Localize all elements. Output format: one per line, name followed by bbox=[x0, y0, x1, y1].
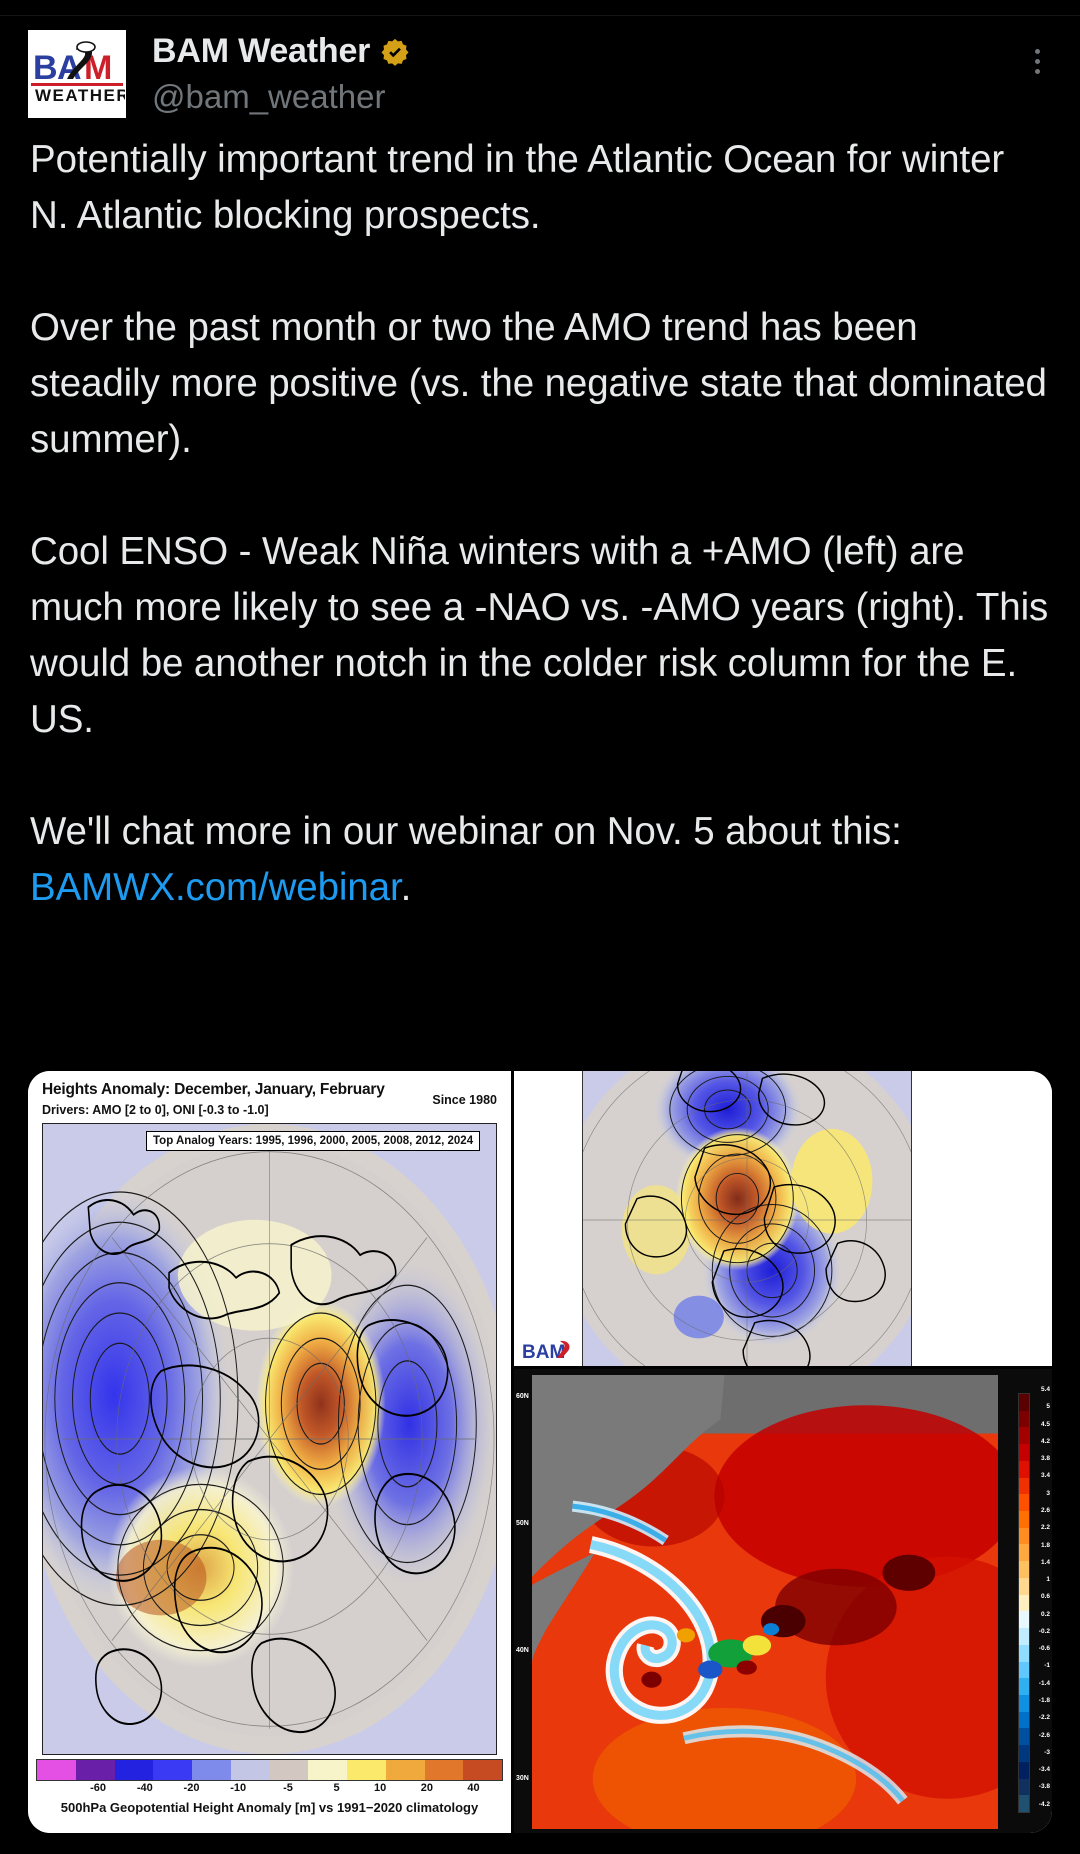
tweet-body: Potentially important trend in the Atlan… bbox=[0, 118, 1080, 916]
sst-tick: -3.4 bbox=[1039, 1767, 1050, 1774]
tweet-text-tail: . bbox=[401, 866, 412, 909]
sst-tick: -1.4 bbox=[1039, 1681, 1050, 1688]
polar-map-svg-2 bbox=[583, 1071, 911, 1366]
sst-anomaly-chart: 60N 50N 40N 30N bbox=[514, 1369, 1052, 1833]
sst-map-canvas bbox=[532, 1375, 998, 1829]
sst-tick: 5.4 bbox=[1041, 1387, 1050, 1394]
sst-tick: -4.2 bbox=[1039, 1802, 1050, 1809]
colorbar-tick: -60 bbox=[59, 1782, 106, 1798]
media-item-height-anomaly-right[interactable]: BAM bbox=[514, 1071, 1052, 1366]
sst-tick: 1.8 bbox=[1041, 1543, 1050, 1550]
colorbar-tick: 20 bbox=[386, 1782, 433, 1798]
more-options-icon[interactable] bbox=[1020, 44, 1054, 78]
top-divider bbox=[0, 0, 1080, 16]
sst-tick: 1.4 bbox=[1041, 1560, 1050, 1567]
svg-text:BAM: BAM bbox=[522, 1342, 565, 1363]
colorbar-container: -60 -40 -20 -10 -5 5 10 20 40 60 500hPa … bbox=[36, 1759, 503, 1825]
bam-weather-logo-icon: B A M WEATHER bbox=[29, 39, 125, 109]
colorbar-tick: -40 bbox=[106, 1782, 153, 1798]
polar-map-canvas-2 bbox=[582, 1071, 912, 1366]
colorbar-tick: 40 bbox=[433, 1782, 480, 1798]
chart-title: Heights Anomaly: December, January, Febr… bbox=[42, 1081, 385, 1099]
sst-colorbar-ticks: 5.4 5 4.5 4.2 3.8 3.4 3 2.6 2.2 1.8 1.4 … bbox=[1030, 1387, 1050, 1819]
svg-text:WEATHER: WEATHER bbox=[35, 86, 125, 105]
media-grid[interactable]: Heights Anomaly: December, January, Febr… bbox=[28, 1071, 1052, 1833]
sst-tick: -2.2 bbox=[1039, 1715, 1050, 1722]
avatar[interactable]: B A M WEATHER bbox=[28, 30, 126, 118]
media-right-column: BAM 60N 50N 40N 30N bbox=[514, 1071, 1052, 1833]
display-name[interactable]: BAM Weather bbox=[152, 32, 370, 71]
colorbar bbox=[36, 1759, 503, 1781]
sst-tick: 2.6 bbox=[1041, 1508, 1050, 1515]
sst-tick: -3.8 bbox=[1039, 1784, 1050, 1791]
sst-tick: 0.6 bbox=[1041, 1594, 1050, 1601]
polar-map-canvas bbox=[42, 1123, 497, 1755]
colorbar-tick: -10 bbox=[199, 1782, 246, 1798]
media-item-sst-anomaly[interactable]: 60N 50N 40N 30N bbox=[514, 1369, 1052, 1833]
sst-tick: 4.5 bbox=[1041, 1422, 1050, 1429]
sst-tick: 1 bbox=[1046, 1577, 1050, 1584]
height-anomaly-chart: Heights Anomaly: December, January, Febr… bbox=[28, 1071, 511, 1833]
user-handle[interactable]: @bam_weather bbox=[152, 77, 410, 117]
sst-tick: -3 bbox=[1044, 1750, 1050, 1757]
sst-tick: 2.2 bbox=[1041, 1525, 1050, 1532]
sst-tick: 3.8 bbox=[1041, 1456, 1050, 1463]
tweet-page: B A M WEATHER BAM Weather @b bbox=[0, 0, 1080, 1854]
sst-tick: -1.8 bbox=[1039, 1698, 1050, 1705]
author-names: BAM Weather @bam_weather bbox=[152, 26, 410, 117]
lat-tick: 60N bbox=[516, 1393, 529, 1400]
sst-tick: -2.6 bbox=[1039, 1733, 1050, 1740]
media-item-height-anomaly-left[interactable]: Heights Anomaly: December, January, Febr… bbox=[28, 1071, 511, 1833]
colorbar-tick: 60 bbox=[480, 1782, 511, 1798]
sst-tick: -0.6 bbox=[1039, 1646, 1050, 1653]
sst-tick: 3 bbox=[1046, 1491, 1050, 1498]
sst-tick: 4.2 bbox=[1041, 1439, 1050, 1446]
colorbar-tick: 10 bbox=[340, 1782, 387, 1798]
colorbar-tick: -5 bbox=[246, 1782, 293, 1798]
sst-tick: -0.2 bbox=[1039, 1629, 1050, 1636]
sst-map-svg bbox=[532, 1375, 998, 1829]
lat-tick: 40N bbox=[516, 1647, 529, 1654]
sst-tick: 5 bbox=[1046, 1404, 1050, 1411]
lat-tick: 30N bbox=[516, 1775, 529, 1782]
tweet-header: B A M WEATHER BAM Weather @b bbox=[0, 16, 1080, 118]
colorbar-label: 500hPa Geopotential Height Anomaly [m] v… bbox=[36, 1800, 503, 1815]
verified-badge-icon bbox=[380, 37, 410, 67]
svg-text:B: B bbox=[33, 49, 58, 87]
chart-analog-years-annotation: Top Analog Years: 1995, 1996, 2000, 2005… bbox=[146, 1131, 480, 1151]
polar-map-svg bbox=[43, 1124, 496, 1754]
sst-tick: 0.2 bbox=[1041, 1612, 1050, 1619]
sst-colorbar bbox=[1018, 1393, 1030, 1813]
sst-tick: -1 bbox=[1044, 1663, 1050, 1670]
sst-tick: 3.4 bbox=[1041, 1473, 1050, 1480]
colorbar-ticks: -60 -40 -20 -10 -5 5 10 20 40 60 bbox=[36, 1782, 503, 1798]
chart-period-note: Since 1980 bbox=[432, 1093, 497, 1107]
webinar-link[interactable]: BAMWX.com/webinar bbox=[30, 866, 401, 909]
colorbar-tick: -20 bbox=[153, 1782, 200, 1798]
chart-subtitle: Drivers: AMO [2 to 0], ONI [-0.3 to -1.0… bbox=[42, 1103, 269, 1117]
tweet-text-main: Potentially important trend in the Atlan… bbox=[30, 138, 1059, 853]
bam-watermark-icon: BAM bbox=[522, 1338, 582, 1364]
lat-tick: 50N bbox=[516, 1520, 529, 1527]
display-name-row: BAM Weather bbox=[152, 32, 410, 71]
colorbar-tick: 5 bbox=[293, 1782, 340, 1798]
height-anomaly-chart-negative-amo: BAM bbox=[514, 1071, 1052, 1366]
